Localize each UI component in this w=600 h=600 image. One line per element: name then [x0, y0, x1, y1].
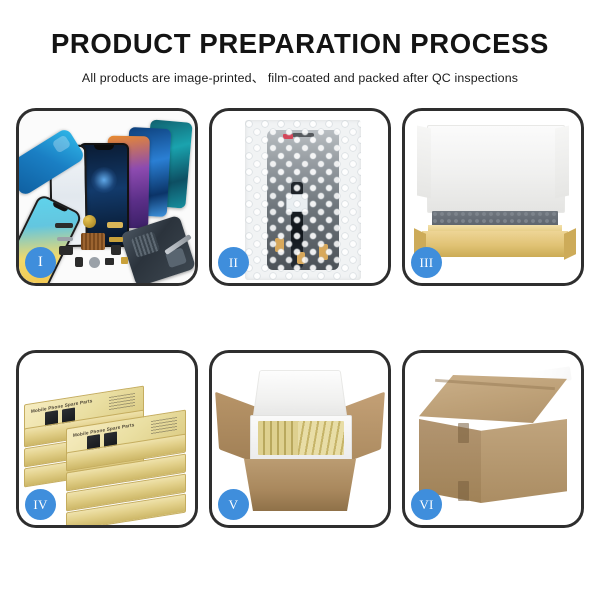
packed-retail-boxes-right-icon	[298, 421, 344, 455]
badge-step-4-numeral: IV	[33, 497, 47, 513]
bubble-wrap-bag-icon	[245, 120, 361, 280]
wrapped-flex-cable-icon	[291, 182, 303, 268]
part-vibration-motor-icon	[111, 245, 121, 255]
part-battery-strip-icon	[55, 223, 73, 228]
panel-step-2-image: II	[212, 111, 388, 283]
wrapped-connector-icon	[286, 194, 308, 212]
page-title: PRODUCT PREPARATION PROCESS	[0, 30, 600, 59]
sealed-carton-right-face-icon	[481, 419, 567, 503]
wrapped-tape-3-icon	[297, 252, 305, 264]
panel-step-1-image: I	[19, 111, 195, 283]
part-chip-icon	[105, 258, 114, 265]
box-label-lines-icon	[151, 417, 177, 435]
wrapped-tape-2-icon	[319, 244, 328, 260]
badge-step-1: I	[25, 247, 56, 278]
panel-step-4[interactable]: Mobile Phone Spare Parts Mobile Phone Sp…	[16, 350, 198, 528]
panel-step-6[interactable]: VI	[402, 350, 584, 528]
wrapped-tape-1-icon	[275, 238, 284, 252]
part-flex-cable-icon	[107, 222, 123, 228]
wrapped-screen-assembly-icon	[267, 130, 339, 270]
kraft-box-front-icon	[422, 231, 568, 257]
carton-front-icon	[244, 459, 356, 511]
process-step-grid: I II	[0, 108, 600, 528]
badge-step-3: III	[411, 247, 442, 278]
part-bracket-icon	[57, 237, 73, 241]
part-camera-module-icon	[59, 246, 73, 255]
box-lid-flap-left-icon	[417, 126, 431, 199]
part-logic-board-icon	[81, 233, 105, 250]
box-lid-flap-right-icon	[555, 126, 569, 199]
carton-tape-upper-icon	[458, 423, 469, 443]
panel-step-5-image: V	[212, 353, 388, 525]
part-sim-tray-icon	[75, 257, 83, 267]
badge-step-1-numeral: I	[38, 254, 43, 271]
panel-step-6-image: VI	[405, 353, 581, 525]
badge-step-5-numeral: V	[229, 497, 239, 513]
wrapped-red-label-icon	[283, 134, 293, 139]
part-screw-icon	[121, 257, 128, 264]
panel-step-1[interactable]: I	[16, 108, 198, 286]
panel-step-3-image: III	[405, 111, 581, 283]
panel-step-5[interactable]: V	[209, 350, 391, 528]
badge-step-4: IV	[25, 489, 56, 520]
box-label-lines-icon	[109, 393, 135, 411]
part-speaker-coin-icon	[83, 215, 96, 228]
badge-step-6: VI	[411, 489, 442, 520]
panel-step-4-image: Mobile Phone Spare Parts Mobile Phone Sp…	[19, 353, 195, 525]
carton-tape-lower-icon	[458, 481, 469, 501]
badge-step-2: II	[218, 247, 249, 278]
panel-step-2[interactable]: II	[209, 108, 391, 286]
badge-step-2-numeral: II	[229, 255, 238, 271]
page-subtitle: All products are image-printed、 film-coa…	[0, 68, 600, 86]
panel-step-3[interactable]: III	[402, 108, 584, 286]
badge-step-5: V	[218, 489, 249, 520]
spare-parts-cluster	[55, 213, 165, 277]
page-header: PRODUCT PREPARATION PROCESS All products…	[0, 0, 600, 86]
badge-step-3-numeral: III	[420, 255, 434, 271]
badge-step-6-numeral: VI	[419, 497, 433, 513]
part-taptic-icon	[89, 257, 100, 268]
box-foam-lid-icon	[427, 125, 565, 213]
part-connector-icon	[109, 237, 123, 242]
